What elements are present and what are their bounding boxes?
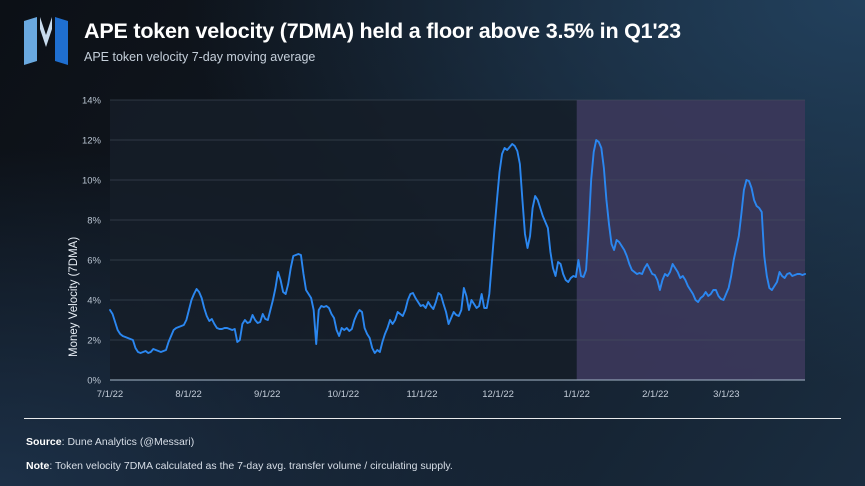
footer-source-value: : Dune Analytics (@Messari) [62, 436, 195, 448]
svg-text:0%: 0% [87, 375, 101, 386]
svg-text:2/1/22: 2/1/22 [642, 389, 668, 400]
svg-text:7/1/22: 7/1/22 [97, 389, 123, 400]
svg-text:12%: 12% [82, 135, 102, 146]
svg-text:10%: 10% [82, 175, 102, 186]
messari-m-logo-icon [24, 17, 68, 65]
svg-text:4%: 4% [87, 295, 101, 306]
svg-text:12/1/22: 12/1/22 [482, 389, 514, 400]
svg-text:8/1/22: 8/1/22 [175, 389, 201, 400]
header: APE token velocity (7DMA) held a floor a… [0, 0, 865, 82]
y-axis-ticks: 0%2%4%6%8%10%12%14% [82, 95, 102, 386]
page-title: APE token velocity (7DMA) held a floor a… [84, 19, 681, 44]
footer-note: Note: Token velocity 7DMA calculated as … [26, 460, 453, 472]
header-text-block: APE token velocity (7DMA) held a floor a… [84, 19, 681, 64]
footer: Source: Dune Analytics (@Messari) Note: … [0, 412, 865, 486]
svg-text:11/1/22: 11/1/22 [406, 389, 437, 400]
footer-source: Source: Dune Analytics (@Messari) [26, 436, 194, 448]
chart-page: APE token velocity (7DMA) held a floor a… [0, 0, 865, 486]
footer-divider [24, 418, 841, 419]
svg-text:3/1/23: 3/1/23 [713, 389, 739, 400]
footer-source-label: Source [26, 436, 62, 448]
svg-text:6%: 6% [87, 255, 101, 266]
chart-panel: Money Velocity (7DMA) 0%2%4%6%8%10%12%14… [0, 82, 865, 412]
svg-text:2%: 2% [87, 335, 101, 346]
line-chart: 0%2%4%6%8%10%12%14% 7/1/228/1/229/1/2210… [0, 82, 865, 412]
svg-text:8%: 8% [87, 215, 101, 226]
page-subtitle: APE token velocity 7-day moving average [84, 50, 681, 64]
svg-text:9/1/22: 9/1/22 [254, 389, 280, 400]
footer-note-label: Note [26, 460, 49, 472]
x-axis-ticks: 7/1/228/1/229/1/2210/1/2211/1/2212/1/221… [97, 389, 740, 400]
svg-text:1/1/22: 1/1/22 [564, 389, 590, 400]
svg-text:10/1/22: 10/1/22 [328, 389, 360, 400]
svg-text:14%: 14% [82, 95, 102, 106]
footer-note-value: : Token velocity 7DMA calculated as the … [49, 460, 452, 472]
